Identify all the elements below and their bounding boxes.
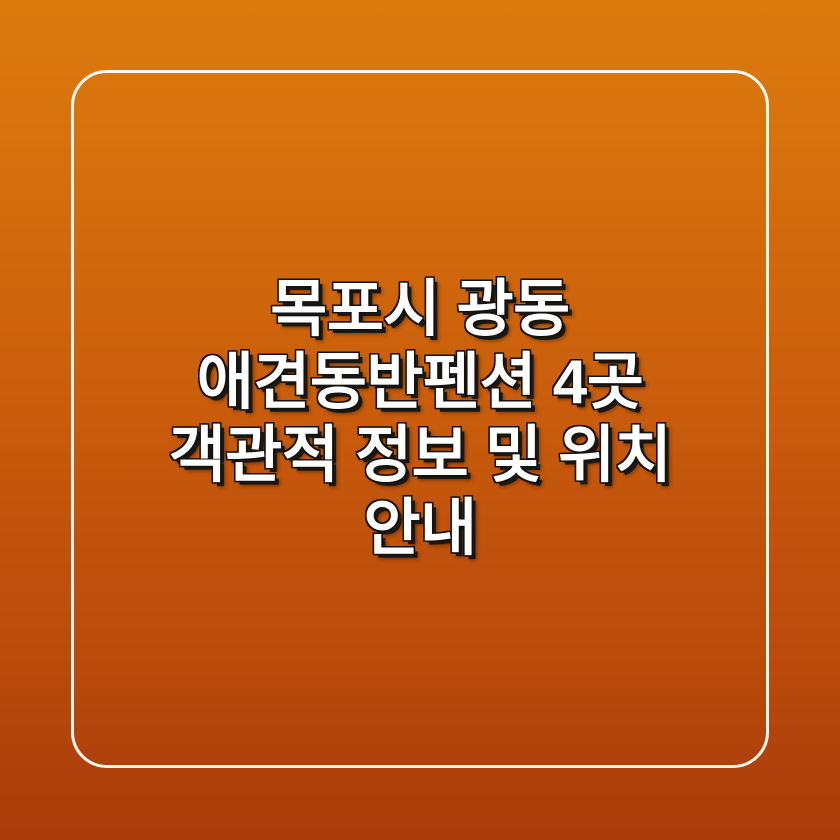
title-line-2: 애견동반펜션 4곳	[89, 346, 751, 419]
title-line-1: 목포시 광동	[89, 273, 751, 346]
title-line-4: 안내	[89, 492, 751, 565]
thumbnail-canvas: 목포시 광동 애견동반펜션 4곳 객관적 정보 및 위치 안내	[0, 0, 840, 840]
title-block: 목포시 광동 애견동반펜션 4곳 객관적 정보 및 위치 안내	[71, 70, 769, 768]
title-line-3: 객관적 정보 및 위치	[89, 419, 751, 492]
